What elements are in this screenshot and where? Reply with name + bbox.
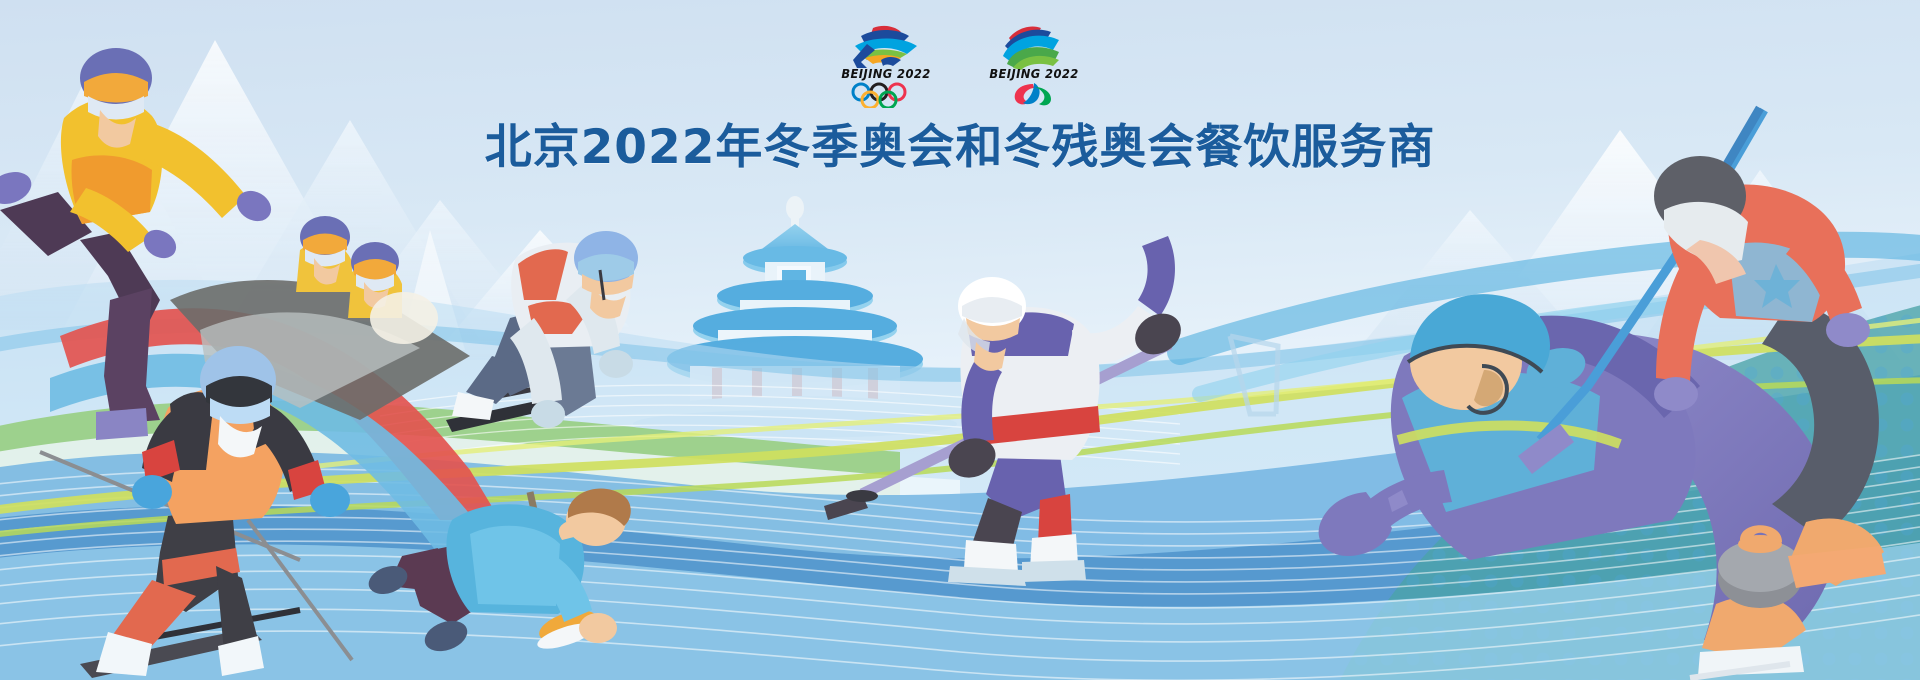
- athlete-curler-right: [0, 0, 1920, 680]
- curling-stone: [1718, 525, 1802, 608]
- olympic-banner: BEIJING 2022 BEIJING 2022: [0, 0, 1920, 680]
- curler-right-glove-upper: [1826, 313, 1870, 347]
- page-title: 北京2022年冬季奥会和冬残奥会餐饮服务商: [0, 122, 1920, 174]
- curler-right-glove-lower: [1654, 377, 1698, 411]
